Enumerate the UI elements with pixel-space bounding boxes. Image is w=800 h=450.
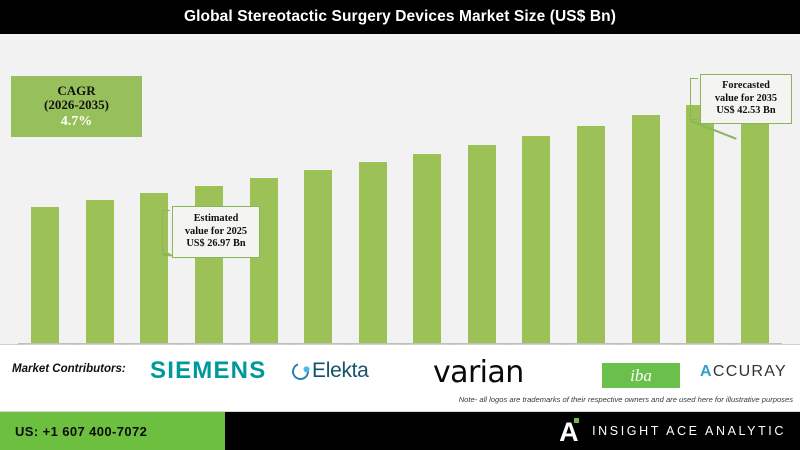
callout-2035-line1: Forecasted xyxy=(722,80,770,93)
phone-number[interactable]: US: +1 607 400-7072 xyxy=(15,424,147,439)
bar xyxy=(86,200,114,344)
elekta-dot-icon xyxy=(302,365,310,373)
trademark-note: Note- all logos are trademarks of their … xyxy=(459,395,793,404)
bar-slot xyxy=(455,74,510,344)
contributors-label: Market Contributors: xyxy=(12,363,126,375)
page-title: Global Stereotactic Surgery Devices Mark… xyxy=(184,8,616,26)
bar-slot xyxy=(564,74,619,344)
bar xyxy=(304,170,332,344)
callout-bracket-2025 xyxy=(162,210,170,254)
varian-logo: varian xyxy=(433,355,524,390)
siemens-logo: SIEMENS xyxy=(150,357,266,385)
bar xyxy=(468,145,496,344)
elekta-circle-icon xyxy=(289,360,312,383)
bar xyxy=(632,115,660,344)
phone-block[interactable]: US: +1 607 400-7072 xyxy=(0,412,225,450)
iba-logo: iba xyxy=(602,363,680,388)
bar-slot xyxy=(400,74,455,344)
callout-2025-line1: Estimated xyxy=(194,213,239,226)
chart-panel: 2022 (A)2023 (A)2024 (A)2025 (E)2026 (F)… xyxy=(0,34,800,345)
callout-bracket-2035 xyxy=(690,78,698,120)
bar xyxy=(413,154,441,344)
bar xyxy=(522,136,550,345)
insight-ace-a-icon: A xyxy=(559,419,579,444)
a-glyph: A xyxy=(559,421,579,444)
iba-logo-text: iba xyxy=(630,366,652,386)
bar-slot xyxy=(291,74,346,344)
accuray-logo: ACCURAY xyxy=(700,363,787,381)
bar-slot xyxy=(618,74,673,344)
title-bar: Global Stereotactic Surgery Devices Mark… xyxy=(0,0,800,34)
a-accent-dot-icon xyxy=(574,418,579,423)
bar xyxy=(741,94,769,344)
x-axis-line xyxy=(18,343,782,344)
cagr-period: (2026-2035) xyxy=(44,98,109,113)
elekta-logo-text: Elekta xyxy=(312,359,369,383)
accuray-logo-text: CCURAY xyxy=(713,363,787,381)
bar-slot xyxy=(509,74,564,344)
bar xyxy=(577,126,605,344)
market-contributors-strip: Market Contributors: SIEMENS Elekta vari… xyxy=(0,345,800,412)
callout-estimated-2025: Estimated value for 2025 US$ 26.97 Bn xyxy=(172,206,260,258)
callout-2035-line2: value for 2035 xyxy=(715,93,777,106)
varian-logo-text: varian xyxy=(433,355,524,390)
siemens-logo-text: SIEMENS xyxy=(150,357,266,385)
callout-2025-line2: value for 2025 xyxy=(185,226,247,239)
cagr-badge: CAGR (2026-2035) 4.7% xyxy=(11,76,142,137)
bar xyxy=(359,162,387,344)
brand-lockup: A INSIGHT ACE ANALYTIC xyxy=(559,412,786,450)
callout-forecast-2035: Forecasted value for 2035 US$ 42.53 Bn xyxy=(700,74,792,124)
bar xyxy=(686,105,714,344)
bar xyxy=(31,207,59,344)
cagr-value: 4.7% xyxy=(61,114,93,130)
bar-slot xyxy=(345,74,400,344)
cagr-title: CAGR xyxy=(57,84,95,99)
brand-name: INSIGHT ACE ANALYTIC xyxy=(592,424,786,438)
chart-infographic: Global Stereotactic Surgery Devices Mark… xyxy=(0,0,800,450)
footer-bar: US: +1 607 400-7072 A INSIGHT ACE ANALYT… xyxy=(0,412,800,450)
bar xyxy=(250,178,278,344)
elekta-logo: Elekta xyxy=(292,359,369,383)
callout-2035-line3: US$ 42.53 Bn xyxy=(716,105,775,118)
callout-2025-line3: US$ 26.97 Bn xyxy=(186,238,245,251)
accuray-logo-prefix: A xyxy=(700,363,713,381)
